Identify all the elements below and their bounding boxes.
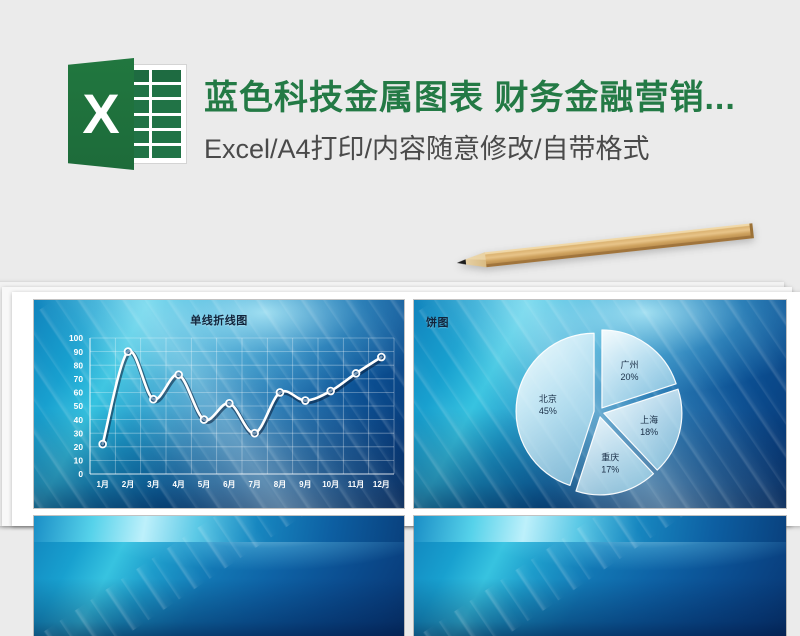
svg-text:80: 80 (74, 360, 84, 370)
svg-text:17%: 17% (601, 465, 619, 475)
svg-text:12月: 12月 (373, 480, 390, 489)
svg-text:9月: 9月 (299, 480, 311, 489)
panel-highlight-strip (414, 516, 786, 542)
excel-file-icon: X (68, 58, 186, 170)
svg-text:10月: 10月 (322, 480, 339, 489)
svg-text:10: 10 (74, 456, 84, 466)
svg-text:4月: 4月 (172, 480, 184, 489)
svg-text:60: 60 (74, 388, 84, 398)
svg-text:5月: 5月 (198, 480, 210, 489)
page-subtitle: Excel/A4打印/内容随意修改/自带格式 (204, 127, 794, 166)
svg-text:70: 70 (74, 374, 84, 384)
chart-panel-bottom-right[interactable] (414, 516, 786, 636)
svg-text:30: 30 (74, 428, 84, 438)
line-chart-panel[interactable]: 单线折线图 01020304050607080901001月2月3月4月5月6月… (34, 300, 404, 508)
excel-x-letter: X (68, 58, 134, 170)
svg-text:20%: 20% (620, 372, 638, 382)
svg-text:3月: 3月 (147, 480, 159, 489)
svg-text:7月: 7月 (248, 480, 260, 489)
svg-text:上海: 上海 (640, 414, 658, 425)
svg-text:6月: 6月 (223, 480, 235, 489)
svg-text:重庆: 重庆 (601, 452, 619, 463)
line-chart-plot: 01020304050607080901001月2月3月4月5月6月7月8月9月… (34, 300, 404, 508)
header-banner: X 蓝色科技金属图表 财务金融营销... Excel/A4打印/内容随意修改/自… (0, 0, 800, 210)
svg-text:2月: 2月 (122, 480, 134, 489)
svg-text:北京: 北京 (539, 393, 557, 404)
pie-chart-plot: 广州20%上海18%重庆17%北京45% (414, 300, 786, 508)
page-title: 蓝色科技金属图表 财务金融营销... (204, 70, 794, 119)
svg-text:1月: 1月 (96, 480, 108, 489)
svg-text:广州: 广州 (620, 359, 638, 370)
svg-text:90: 90 (74, 347, 84, 357)
svg-text:50: 50 (74, 401, 84, 411)
pencil-icon (455, 220, 756, 276)
svg-text:0: 0 (78, 469, 83, 479)
chart-panel-bottom-left[interactable] (34, 516, 404, 636)
line-chart-title: 单线折线图 (190, 312, 248, 328)
pie-chart-title: 饼图 (426, 314, 449, 330)
pie-chart-panel[interactable]: 饼图 广州20%上海18%重庆17%北京45% (414, 300, 786, 508)
svg-text:40: 40 (74, 415, 84, 425)
panel-highlight-strip (34, 516, 404, 542)
svg-text:20: 20 (74, 442, 84, 452)
svg-text:11月: 11月 (348, 480, 364, 489)
svg-text:100: 100 (69, 333, 83, 343)
svg-text:45%: 45% (539, 406, 557, 416)
svg-text:18%: 18% (640, 427, 658, 437)
svg-text:8月: 8月 (274, 480, 286, 489)
